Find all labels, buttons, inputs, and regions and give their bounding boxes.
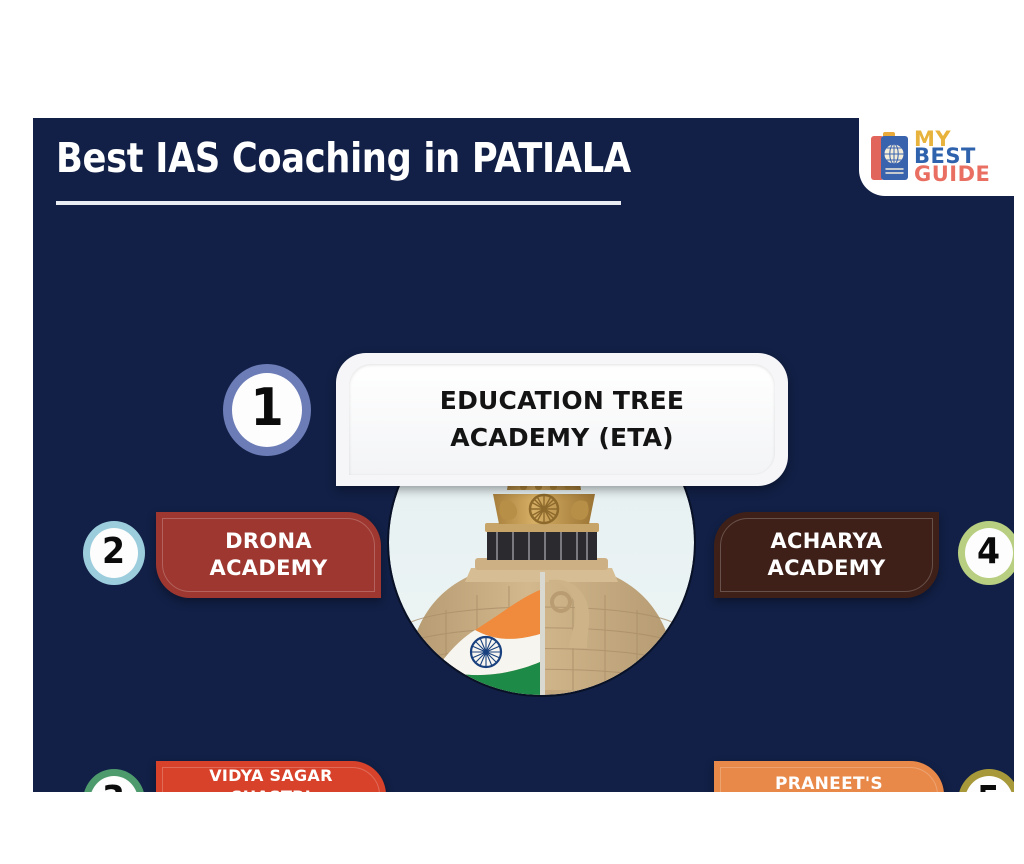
- institute-card-2[interactable]: DRONA ACADEMY: [156, 512, 381, 598]
- institute-card-5-line1: PRANEET'S ACHIEVER: [726, 774, 932, 792]
- brand-wordmark: MY BEST GUIDE: [914, 131, 990, 183]
- title-underline: [56, 201, 621, 205]
- header: Best IAS Coaching in PATIALA: [33, 118, 1014, 218]
- rank-badge-2: 2: [83, 521, 145, 585]
- brand-word-guide: GUIDE: [914, 166, 990, 183]
- institute-card-4[interactable]: ACHARYA ACADEMY: [714, 512, 939, 598]
- page-title: Best IAS Coaching in PATIALA: [56, 134, 631, 182]
- infographic-panel: Best IAS Coaching in PATIALA: [33, 118, 1014, 792]
- institute-card-1-line2: ACADEMY (ETA): [440, 420, 684, 456]
- institute-card-1-label: EDUCATION TREE ACADEMY (ETA): [440, 383, 684, 456]
- institute-card-2-label: DRONA ACADEMY: [198, 528, 340, 582]
- rank-badge-4-number: 4: [977, 531, 1000, 572]
- institute-card-2-line2: ACADEMY: [210, 555, 328, 582]
- passport-globe-book-icon: [869, 130, 911, 184]
- rank-badge-2-number: 2: [102, 531, 125, 572]
- rank-badge-5-number: 5: [977, 779, 1000, 793]
- institute-card-3[interactable]: VIDYA SAGAR SHASTRI MEMORIAL IAS STUDY C…: [156, 761, 386, 792]
- institute-card-1[interactable]: EDUCATION TREE ACADEMY (ETA): [336, 353, 788, 486]
- institute-card-3-label: VIDYA SAGAR SHASTRI MEMORIAL IAS STUDY C…: [156, 766, 386, 792]
- rank-badge-3-number: 3: [102, 779, 125, 793]
- institute-card-2-line1: DRONA: [210, 528, 328, 555]
- rank-badge-1: 1: [223, 364, 311, 456]
- rank-badge-1-number: 1: [250, 378, 283, 438]
- institute-card-5[interactable]: PRANEET'S ACHIEVER CLASSES: [714, 761, 944, 792]
- rank-badge-5: 5: [958, 769, 1014, 792]
- rank-badge-3: 3: [83, 769, 145, 792]
- institute-card-3-line1: VIDYA SAGAR SHASTRI: [168, 766, 374, 792]
- institute-card-5-label: PRANEET'S ACHIEVER CLASSES: [714, 774, 944, 792]
- institute-card-4-line2: ACADEMY: [768, 555, 886, 582]
- brand-logo[interactable]: MY BEST GUIDE: [859, 118, 1014, 196]
- institute-card-1-inner: EDUCATION TREE ACADEMY (ETA): [349, 364, 775, 475]
- institute-card-4-label: ACHARYA ACADEMY: [756, 528, 898, 582]
- rank-badge-4: 4: [958, 521, 1014, 585]
- institute-card-4-line1: ACHARYA: [768, 528, 886, 555]
- institute-card-1-line1: EDUCATION TREE: [440, 383, 684, 419]
